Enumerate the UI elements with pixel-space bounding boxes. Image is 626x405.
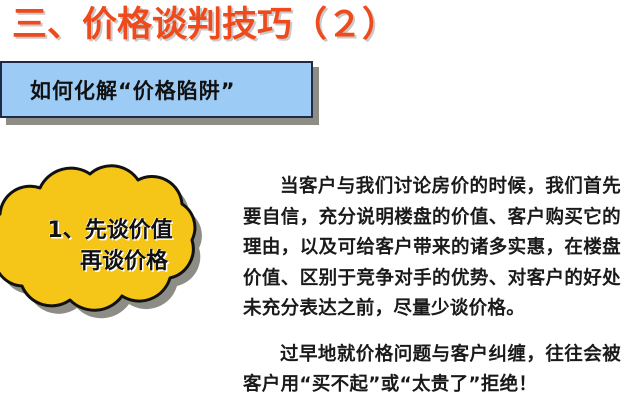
cloud-callout: 1、先谈价值 再谈价格 bbox=[0, 162, 232, 330]
cloud-shape-icon bbox=[0, 162, 232, 330]
body-paragraph-2: 过早地就价格问题与客户纠缠，往往会被客户用“买不起”或“太贵了”拒绝！ bbox=[243, 340, 621, 401]
body-paragraph-1: 当客户与我们讨论房价的时候，我们首先要自信，充分说明楼盘的价值、客户购买它的理由… bbox=[243, 172, 621, 325]
section-banner-label: 如何化解“价格陷阱” bbox=[30, 75, 236, 105]
page-title: 三、价格谈判技巧（２） bbox=[12, 2, 432, 50]
body-text-block: 当客户与我们讨论房价的时候，我们首先要自信，充分说明楼盘的价值、客户购买它的理由… bbox=[243, 172, 621, 401]
section-banner: 如何化解“价格陷阱” bbox=[0, 61, 313, 118]
